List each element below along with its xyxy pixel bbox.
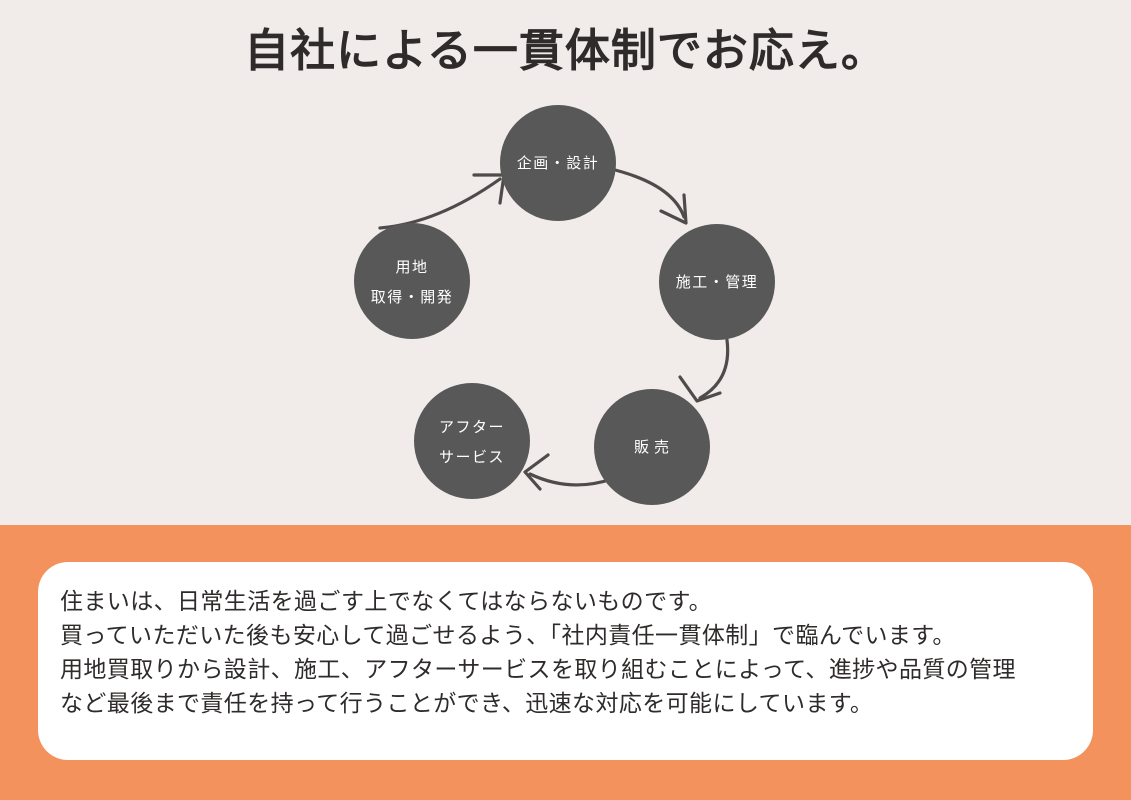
node-label-after-service-line1: アフター xyxy=(439,419,505,436)
diagram-node-after-service[interactable]: アフター サービス xyxy=(414,383,530,499)
node-label-construction: 施工・管理 xyxy=(676,274,759,291)
description-card: 住まいは、日常生活を過ごす上でなくてはならないものです。 買っていただいた後も安… xyxy=(38,562,1093,760)
node-label-land-line1: 用地 xyxy=(395,259,428,276)
node-label-sales: 販売 xyxy=(634,439,674,456)
page-title: 自社による一貫体制でお応え。 xyxy=(0,24,1131,78)
diagram-node-land[interactable]: 用地 取得・開発 xyxy=(354,223,470,339)
arrow-planning-to-construction xyxy=(607,168,686,223)
node-circle-land xyxy=(354,223,470,339)
description-line-2: 買っていただいた後も安心して過ごせるよう、「社内責任一貫体制」で臨んでいます。 xyxy=(60,618,1067,652)
diagram-node-planning[interactable]: 企画・設計 xyxy=(500,105,616,221)
description-line-4: など最後まで責任を持って行うことができ、迅速な対応を可能にしています。 xyxy=(60,686,1067,720)
node-label-land-line2: 取得・開発 xyxy=(371,289,454,306)
node-label-planning: 企画・設計 xyxy=(517,154,600,172)
diagram-node-construction[interactable]: 施工・管理 xyxy=(659,224,775,340)
arrow-construction-to-sales xyxy=(680,340,728,401)
node-circle-after-service xyxy=(414,383,530,499)
diagram-node-sales[interactable]: 販売 xyxy=(594,389,710,505)
arrow-land-to-planning xyxy=(380,175,504,228)
cycle-diagram: 企画・設計 施工・管理 販売 アフター サービス 用地 xyxy=(0,95,1131,525)
node-label-after-service-line2: サービス xyxy=(439,449,505,466)
description-line-1: 住まいは、日常生活を過ごす上でなくてはならないものです。 xyxy=(60,584,1067,618)
description-line-3: 用地買取りから設計、施工、アフターサービスを取り組むことによって、進捗や品質の管… xyxy=(60,652,1067,686)
slide-root: 自社による一貫体制でお応え。 xyxy=(0,0,1131,800)
